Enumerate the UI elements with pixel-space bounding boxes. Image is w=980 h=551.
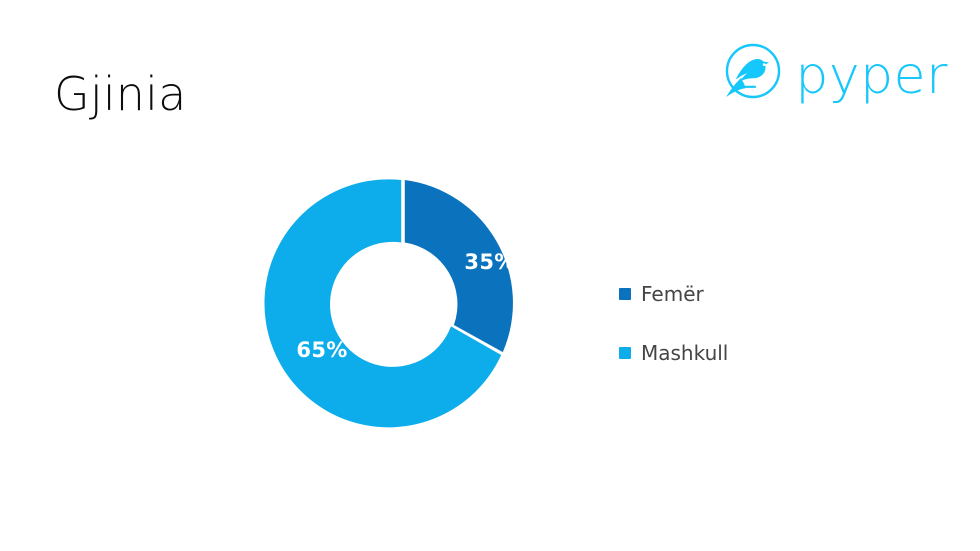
chart-legend: Femër Mashkull [619, 281, 728, 366]
data-label-mashkull: 65% [296, 338, 347, 362]
donut-chart-svg: 35% 65% [278, 179, 528, 429]
page-title: Gjinia [54, 68, 187, 121]
legend-label-mashkull: Mashkull [641, 343, 728, 363]
brand-wordmark: pyper [795, 50, 948, 102]
donut-slices [264, 179, 512, 427]
donut-chart: 35% 65% [278, 179, 528, 429]
legend-label-femer: Femër [641, 284, 704, 304]
bird-in-circle-icon [719, 41, 785, 107]
data-label-femer: 35% [464, 250, 515, 274]
legend-swatch-mashkull [619, 347, 631, 359]
legend-item-femer[interactable]: Femër [619, 281, 728, 307]
legend-item-mashkull[interactable]: Mashkull [619, 340, 728, 366]
legend-swatch-femer [619, 288, 631, 300]
brand-logo: pyper [719, 38, 948, 110]
slide-canvas: Gjinia pyper 35% 65% [0, 0, 980, 551]
